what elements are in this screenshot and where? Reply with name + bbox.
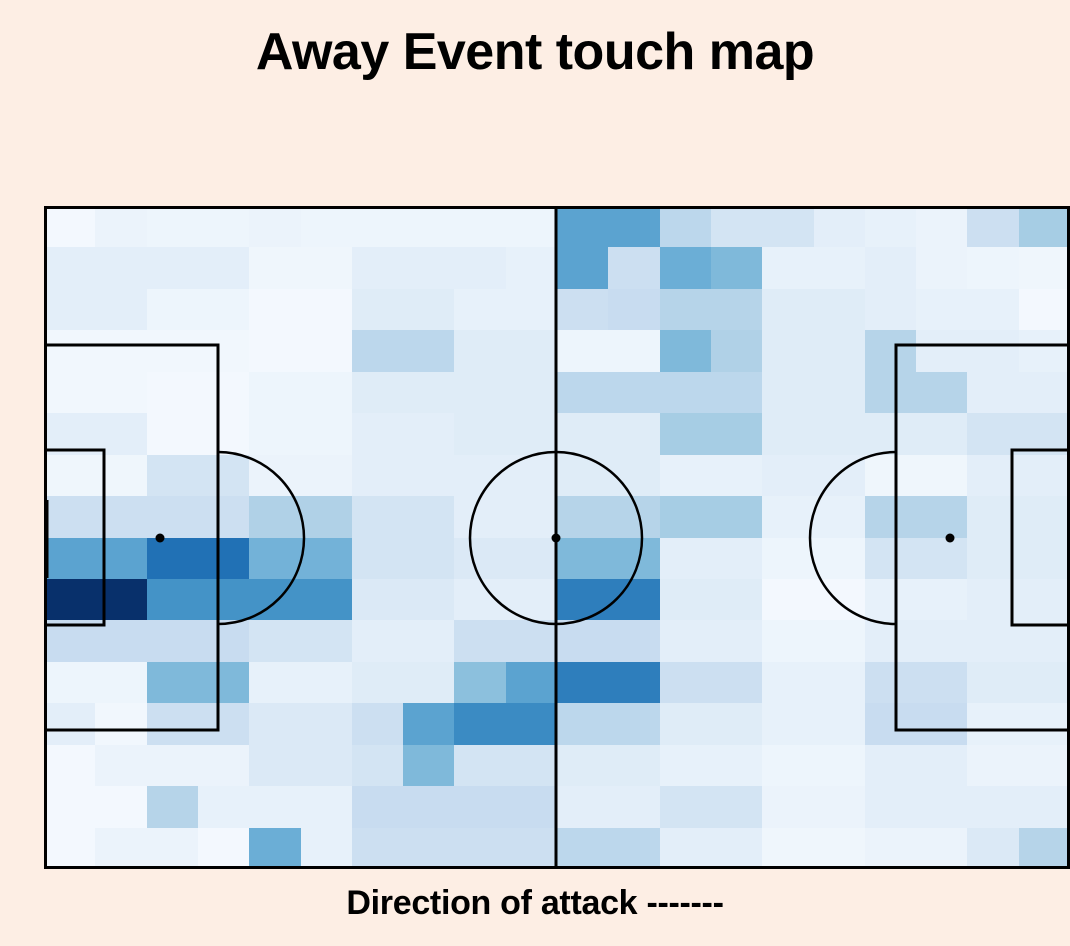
heat-cell bbox=[44, 745, 96, 787]
heat-cell bbox=[301, 496, 353, 538]
heat-cell bbox=[865, 372, 917, 414]
heat-cell bbox=[44, 496, 96, 538]
heat-cell bbox=[865, 247, 917, 289]
heat-cell bbox=[711, 703, 763, 745]
heat-cell bbox=[762, 330, 814, 372]
heat-cell bbox=[967, 496, 1019, 538]
heat-cell bbox=[301, 620, 353, 662]
heat-cell bbox=[301, 206, 353, 248]
heat-cell bbox=[403, 496, 455, 538]
heat-cell bbox=[762, 579, 814, 621]
heat-cell bbox=[814, 413, 866, 455]
heat-cell bbox=[249, 289, 301, 331]
heat-cell bbox=[557, 745, 609, 787]
heat-cell bbox=[147, 247, 199, 289]
heat-cell bbox=[814, 703, 866, 745]
heat-cell bbox=[95, 786, 147, 828]
heat-cell bbox=[506, 496, 558, 538]
heat-cell bbox=[814, 455, 866, 497]
heat-cell bbox=[44, 455, 96, 497]
heat-cell bbox=[506, 620, 558, 662]
heat-cell bbox=[198, 455, 250, 497]
heat-cell bbox=[506, 703, 558, 745]
heat-cell bbox=[44, 828, 96, 869]
heat-cell bbox=[352, 247, 404, 289]
heat-cell bbox=[865, 745, 917, 787]
heat-cell bbox=[506, 206, 558, 248]
heat-cell bbox=[1019, 206, 1070, 248]
heat-cell bbox=[403, 703, 455, 745]
heat-cell bbox=[506, 579, 558, 621]
heat-cell bbox=[301, 828, 353, 869]
heat-cell bbox=[95, 579, 147, 621]
heat-cell bbox=[454, 579, 506, 621]
heat-cell bbox=[557, 620, 609, 662]
heat-cell bbox=[454, 330, 506, 372]
heat-cell bbox=[44, 662, 96, 704]
heat-cell bbox=[1019, 330, 1070, 372]
heat-cell bbox=[711, 372, 763, 414]
heat-cell bbox=[44, 620, 96, 662]
heat-cell bbox=[865, 455, 917, 497]
heat-cell bbox=[660, 786, 712, 828]
heat-cell bbox=[352, 413, 404, 455]
heat-cell bbox=[403, 828, 455, 869]
heat-cell bbox=[454, 703, 506, 745]
heat-cell bbox=[1019, 455, 1070, 497]
heat-cell bbox=[198, 703, 250, 745]
heat-cell bbox=[711, 247, 763, 289]
heat-cell bbox=[352, 828, 404, 869]
heat-cell bbox=[814, 662, 866, 704]
page-title: Away Event touch map bbox=[0, 24, 1070, 81]
heat-cell bbox=[301, 247, 353, 289]
heat-cell bbox=[147, 786, 199, 828]
heat-cell bbox=[301, 372, 353, 414]
heat-cell bbox=[403, 455, 455, 497]
heat-cell bbox=[198, 786, 250, 828]
heat-cell bbox=[916, 206, 968, 248]
heat-cell bbox=[198, 620, 250, 662]
heat-cell bbox=[1019, 538, 1070, 580]
heat-cell bbox=[967, 703, 1019, 745]
heat-cell bbox=[249, 372, 301, 414]
heat-cell bbox=[967, 330, 1019, 372]
heat-cell bbox=[249, 247, 301, 289]
heat-cell bbox=[967, 247, 1019, 289]
heat-cell bbox=[198, 745, 250, 787]
heat-cell bbox=[557, 247, 609, 289]
heat-cell bbox=[147, 289, 199, 331]
heat-cell bbox=[454, 828, 506, 869]
heat-cell bbox=[95, 496, 147, 538]
heat-cell bbox=[608, 786, 660, 828]
heat-cell bbox=[44, 247, 96, 289]
heat-cell bbox=[403, 745, 455, 787]
heat-cell bbox=[557, 703, 609, 745]
heat-cell bbox=[916, 496, 968, 538]
heat-cell bbox=[916, 372, 968, 414]
heat-cell bbox=[44, 579, 96, 621]
heat-cell bbox=[147, 496, 199, 538]
heat-cell bbox=[352, 662, 404, 704]
heat-cell bbox=[711, 330, 763, 372]
heat-cell bbox=[762, 786, 814, 828]
heat-cell bbox=[352, 372, 404, 414]
heat-cell bbox=[506, 372, 558, 414]
heat-cell bbox=[352, 579, 404, 621]
heat-cell bbox=[95, 247, 147, 289]
heat-cell bbox=[301, 413, 353, 455]
heat-cell bbox=[660, 620, 712, 662]
heat-cell bbox=[506, 330, 558, 372]
heat-cell bbox=[147, 413, 199, 455]
heat-cell bbox=[660, 372, 712, 414]
heat-cell bbox=[608, 745, 660, 787]
heat-cell bbox=[608, 413, 660, 455]
heat-cell bbox=[967, 455, 1019, 497]
heat-cell bbox=[916, 538, 968, 580]
heatmap-grid bbox=[44, 206, 1070, 869]
heat-cell bbox=[1019, 745, 1070, 787]
heat-cell bbox=[454, 247, 506, 289]
heat-cell bbox=[147, 745, 199, 787]
heat-cell bbox=[762, 620, 814, 662]
heat-cell bbox=[916, 828, 968, 869]
heat-cell bbox=[814, 620, 866, 662]
heat-cell bbox=[660, 496, 712, 538]
heat-cell bbox=[95, 413, 147, 455]
heat-cell bbox=[814, 496, 866, 538]
touch-map-figure: Away Event touch map bbox=[0, 0, 1070, 946]
heat-cell bbox=[95, 372, 147, 414]
heat-cell bbox=[403, 786, 455, 828]
heat-cell bbox=[454, 496, 506, 538]
heat-cell bbox=[865, 496, 917, 538]
heat-cell bbox=[608, 579, 660, 621]
heat-cell bbox=[762, 247, 814, 289]
heat-cell bbox=[249, 745, 301, 787]
heat-cell bbox=[865, 330, 917, 372]
heat-cell bbox=[660, 206, 712, 248]
heat-cell bbox=[1019, 413, 1070, 455]
heat-cell bbox=[557, 330, 609, 372]
heat-cell bbox=[352, 745, 404, 787]
heat-cell bbox=[44, 538, 96, 580]
heat-cell bbox=[814, 745, 866, 787]
heat-cell bbox=[660, 745, 712, 787]
heat-cell bbox=[814, 579, 866, 621]
heat-cell bbox=[249, 413, 301, 455]
heat-cell bbox=[44, 413, 96, 455]
heat-cell bbox=[608, 620, 660, 662]
heat-cell bbox=[865, 620, 917, 662]
heat-cell bbox=[762, 372, 814, 414]
heat-cell bbox=[95, 538, 147, 580]
heat-cell bbox=[660, 455, 712, 497]
heat-cell bbox=[660, 662, 712, 704]
heat-cell bbox=[967, 579, 1019, 621]
heat-cell bbox=[865, 579, 917, 621]
heat-cell bbox=[660, 828, 712, 869]
heat-cell bbox=[557, 289, 609, 331]
heat-cell bbox=[147, 703, 199, 745]
heat-cell bbox=[198, 206, 250, 248]
heat-cell bbox=[557, 786, 609, 828]
direction-of-attack-caption: Direction of attack ------- bbox=[0, 884, 1070, 923]
heat-cell bbox=[301, 703, 353, 745]
heat-cell bbox=[147, 538, 199, 580]
heat-cell bbox=[198, 289, 250, 331]
heat-cell bbox=[1019, 703, 1070, 745]
heat-cell bbox=[711, 579, 763, 621]
heat-cell bbox=[506, 247, 558, 289]
heat-cell bbox=[403, 413, 455, 455]
heat-cell bbox=[198, 496, 250, 538]
heat-cell bbox=[506, 413, 558, 455]
heat-cell bbox=[198, 579, 250, 621]
heat-cell bbox=[762, 413, 814, 455]
heat-cell bbox=[814, 372, 866, 414]
heat-cell bbox=[967, 662, 1019, 704]
heat-cell bbox=[301, 455, 353, 497]
heat-cell bbox=[249, 662, 301, 704]
heat-cell bbox=[352, 496, 404, 538]
heat-cell bbox=[711, 538, 763, 580]
heat-cell bbox=[249, 206, 301, 248]
heat-cell bbox=[95, 662, 147, 704]
heat-cell bbox=[865, 206, 917, 248]
heat-cell bbox=[198, 372, 250, 414]
heat-cell bbox=[95, 620, 147, 662]
heat-cell bbox=[762, 455, 814, 497]
heat-cell bbox=[198, 538, 250, 580]
heat-cell bbox=[916, 289, 968, 331]
heat-cell bbox=[967, 413, 1019, 455]
heat-cell bbox=[557, 455, 609, 497]
heat-cell bbox=[814, 247, 866, 289]
heat-cell bbox=[711, 289, 763, 331]
heat-cell bbox=[249, 786, 301, 828]
heat-cell bbox=[557, 413, 609, 455]
heat-cell bbox=[454, 538, 506, 580]
heat-cell bbox=[403, 372, 455, 414]
heat-cell bbox=[865, 538, 917, 580]
heat-cell bbox=[814, 828, 866, 869]
heat-cell bbox=[249, 330, 301, 372]
heat-cell bbox=[865, 703, 917, 745]
heat-cell bbox=[557, 579, 609, 621]
heat-cell bbox=[608, 206, 660, 248]
heat-cell bbox=[762, 662, 814, 704]
heat-cell bbox=[454, 786, 506, 828]
heat-cell bbox=[95, 206, 147, 248]
heat-cell bbox=[608, 372, 660, 414]
heat-cell bbox=[762, 538, 814, 580]
heat-cell bbox=[557, 662, 609, 704]
heat-cell bbox=[44, 206, 96, 248]
heat-cell bbox=[506, 745, 558, 787]
heat-cell bbox=[198, 828, 250, 869]
heat-cell bbox=[454, 413, 506, 455]
heat-cell bbox=[1019, 786, 1070, 828]
heat-cell bbox=[967, 206, 1019, 248]
heat-cell bbox=[916, 620, 968, 662]
heat-cell bbox=[1019, 372, 1070, 414]
heat-cell bbox=[557, 538, 609, 580]
heat-cell bbox=[506, 662, 558, 704]
heat-cell bbox=[352, 786, 404, 828]
heat-cell bbox=[301, 745, 353, 787]
heat-cell bbox=[95, 330, 147, 372]
pitch-container bbox=[44, 206, 1070, 869]
heat-cell bbox=[352, 703, 404, 745]
heat-cell bbox=[967, 745, 1019, 787]
heat-cell bbox=[1019, 828, 1070, 869]
heat-cell bbox=[608, 496, 660, 538]
heat-cell bbox=[301, 786, 353, 828]
heat-cell bbox=[1019, 496, 1070, 538]
heat-cell bbox=[967, 828, 1019, 869]
heat-cell bbox=[711, 828, 763, 869]
heat-cell bbox=[916, 413, 968, 455]
heat-cell bbox=[147, 579, 199, 621]
heat-cell bbox=[608, 828, 660, 869]
heat-cell bbox=[454, 745, 506, 787]
heat-cell bbox=[916, 330, 968, 372]
heat-cell bbox=[608, 455, 660, 497]
heat-cell bbox=[454, 372, 506, 414]
heat-cell bbox=[608, 247, 660, 289]
heat-cell bbox=[916, 579, 968, 621]
heat-cell bbox=[916, 745, 968, 787]
heat-cell bbox=[249, 455, 301, 497]
heat-cell bbox=[711, 662, 763, 704]
heat-cell bbox=[967, 372, 1019, 414]
heat-cell bbox=[506, 455, 558, 497]
heat-cell bbox=[608, 538, 660, 580]
heat-cell bbox=[249, 620, 301, 662]
heat-cell bbox=[454, 662, 506, 704]
heat-cell bbox=[352, 330, 404, 372]
heat-cell bbox=[249, 538, 301, 580]
heat-cell bbox=[44, 330, 96, 372]
heat-cell bbox=[352, 289, 404, 331]
heat-cell bbox=[506, 289, 558, 331]
heat-cell bbox=[454, 289, 506, 331]
heat-cell bbox=[762, 828, 814, 869]
heat-cell bbox=[814, 786, 866, 828]
heat-cell bbox=[608, 662, 660, 704]
heat-cell bbox=[95, 455, 147, 497]
heat-cell bbox=[147, 828, 199, 869]
heat-cell bbox=[967, 620, 1019, 662]
heat-cell bbox=[557, 828, 609, 869]
heat-cell bbox=[814, 538, 866, 580]
heat-cell bbox=[916, 455, 968, 497]
heat-cell bbox=[44, 703, 96, 745]
heat-cell bbox=[814, 206, 866, 248]
heat-cell bbox=[352, 538, 404, 580]
heat-cell bbox=[95, 289, 147, 331]
heat-cell bbox=[147, 620, 199, 662]
heat-cell bbox=[403, 206, 455, 248]
heat-cell bbox=[711, 620, 763, 662]
heat-cell bbox=[865, 786, 917, 828]
heat-cell bbox=[608, 703, 660, 745]
heat-cell bbox=[249, 828, 301, 869]
heat-cell bbox=[454, 455, 506, 497]
heat-cell bbox=[147, 372, 199, 414]
heat-cell bbox=[147, 206, 199, 248]
heat-cell bbox=[506, 786, 558, 828]
heat-cell bbox=[506, 828, 558, 869]
heat-cell bbox=[557, 496, 609, 538]
heat-cell bbox=[44, 786, 96, 828]
heat-cell bbox=[147, 455, 199, 497]
heat-cell bbox=[301, 538, 353, 580]
heat-cell bbox=[660, 247, 712, 289]
heat-cell bbox=[916, 703, 968, 745]
heat-cell bbox=[967, 538, 1019, 580]
heat-cell bbox=[1019, 579, 1070, 621]
heat-cell bbox=[814, 289, 866, 331]
heat-cell bbox=[711, 786, 763, 828]
heat-cell bbox=[660, 703, 712, 745]
heat-cell bbox=[249, 703, 301, 745]
heat-cell bbox=[403, 247, 455, 289]
heat-cell bbox=[608, 330, 660, 372]
heat-cell bbox=[762, 289, 814, 331]
heat-cell bbox=[762, 703, 814, 745]
heat-cell bbox=[762, 206, 814, 248]
heat-cell bbox=[249, 496, 301, 538]
heat-cell bbox=[301, 579, 353, 621]
heat-cell bbox=[814, 330, 866, 372]
heat-cell bbox=[352, 206, 404, 248]
heat-cell bbox=[916, 662, 968, 704]
heat-cell bbox=[95, 703, 147, 745]
heat-cell bbox=[301, 330, 353, 372]
heat-cell bbox=[1019, 289, 1070, 331]
heat-cell bbox=[506, 538, 558, 580]
heat-cell bbox=[865, 413, 917, 455]
heat-cell bbox=[865, 828, 917, 869]
heat-cell bbox=[916, 786, 968, 828]
heat-cell bbox=[301, 662, 353, 704]
heat-cell bbox=[352, 620, 404, 662]
heat-cell bbox=[198, 330, 250, 372]
heat-cell bbox=[403, 289, 455, 331]
heat-cell bbox=[1019, 662, 1070, 704]
heat-cell bbox=[865, 289, 917, 331]
heat-cell bbox=[403, 620, 455, 662]
heat-cell bbox=[660, 413, 712, 455]
heat-cell bbox=[967, 289, 1019, 331]
heat-cell bbox=[660, 330, 712, 372]
heat-cell bbox=[660, 538, 712, 580]
heat-cell bbox=[147, 330, 199, 372]
heat-cell bbox=[762, 496, 814, 538]
heat-cell bbox=[44, 372, 96, 414]
heat-cell bbox=[198, 662, 250, 704]
heat-cell bbox=[711, 206, 763, 248]
heat-cell bbox=[403, 662, 455, 704]
heat-cell bbox=[1019, 247, 1070, 289]
heat-cell bbox=[1019, 620, 1070, 662]
heat-cell bbox=[403, 330, 455, 372]
heat-cell bbox=[95, 828, 147, 869]
